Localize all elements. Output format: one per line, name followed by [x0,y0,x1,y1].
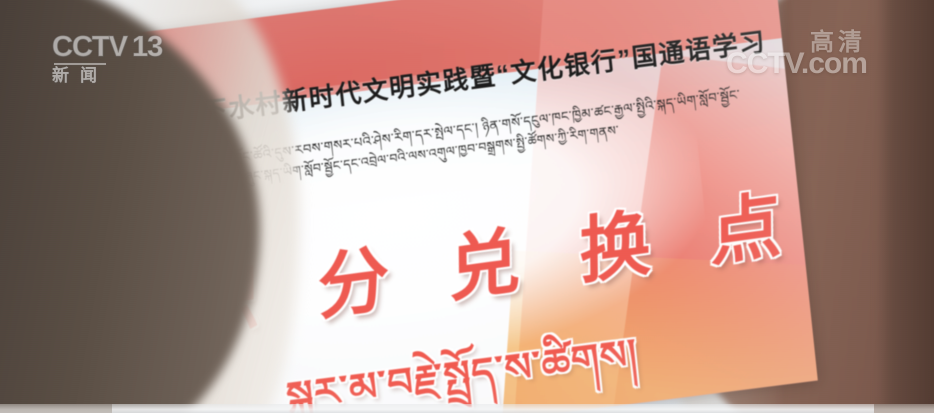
tv-broadcast-frame: 下水村新时代文明实践暨“文化银行”国通语学习 ཆུ་སྨད་གྲོང་ཚོའི་… [0,0,934,413]
channel-logo-sublabel: 新闻 [52,67,176,84]
bottom-strip-right-shadow [874,404,934,413]
channel-logo-number: 13 [129,33,165,62]
channel-logo-watermark: CCTV13 新闻 [52,33,176,85]
channel-logo-cctv: CCTV [52,31,127,63]
bottom-strip [0,404,934,413]
channel-logo-text: CCTV13 [52,33,176,62]
bottom-strip-left-shadow [0,404,112,413]
site-watermark: 高清 CCTV.com [726,22,910,84]
site-domain-label: CCTV.com [726,47,867,81]
channel-logo-rule [54,63,106,65]
